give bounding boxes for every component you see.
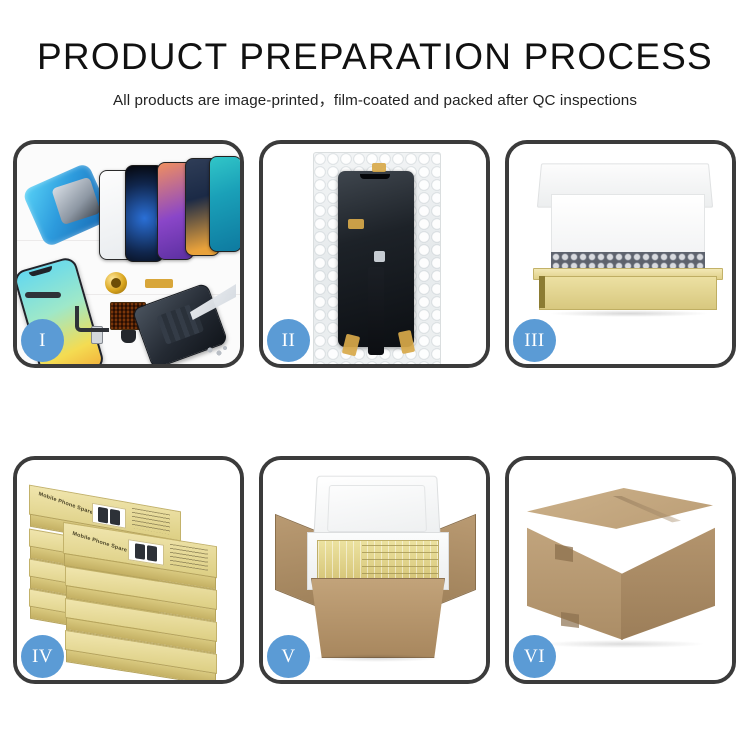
flex-cable-icon (145, 279, 173, 288)
step-badge-1: I (21, 319, 64, 362)
screws-icon (206, 346, 228, 356)
yellow-boxes-inside-icon (317, 540, 439, 582)
drop-shadow (549, 310, 709, 317)
product-preparation-infographic: PRODUCT PREPARATION PROCESS All products… (0, 0, 750, 750)
tape-icon (561, 612, 579, 628)
page-subtitle: All products are image-printed，film-coat… (0, 88, 750, 110)
tape-icon (555, 544, 573, 562)
ribbon-cable-icon (75, 306, 109, 332)
phone-lineup-icon (99, 156, 239, 264)
speaker-coil-icon (105, 272, 127, 294)
drop-shadow (543, 640, 703, 648)
step-badge-2: II (267, 319, 310, 362)
step-card-3: III (505, 140, 736, 368)
vibrator-icon (121, 330, 136, 343)
step-card-5: V (259, 456, 490, 684)
carton-body-icon (311, 578, 445, 658)
step-card-1: I (13, 140, 244, 368)
step-card-4: Mobile Phone Spare Parts Mobile Phone Sp… (13, 456, 244, 684)
header: PRODUCT PREPARATION PROCESS All products… (0, 0, 750, 110)
carton-right-face-icon (621, 518, 715, 640)
step-card-2: II (259, 140, 490, 368)
step-badge-6: VI (513, 635, 556, 678)
process-steps-grid: I II (13, 140, 737, 684)
step-badge-4: IV (21, 635, 64, 678)
step-badge-5: V (267, 635, 310, 678)
step-badge-3: III (513, 319, 556, 362)
tape-icon (348, 219, 364, 229)
earpiece-bar-icon (25, 292, 61, 298)
step-card-6: VI (505, 456, 736, 684)
drop-shadow (313, 654, 441, 662)
screen-assembly-icon (338, 171, 414, 347)
tape-icon (372, 163, 386, 172)
foam-sheet-icon (551, 194, 705, 258)
bubble-wrap-bag-icon (313, 152, 441, 364)
page-title: PRODUCT PREPARATION PROCESS (0, 38, 750, 75)
tape-icon (342, 334, 360, 357)
